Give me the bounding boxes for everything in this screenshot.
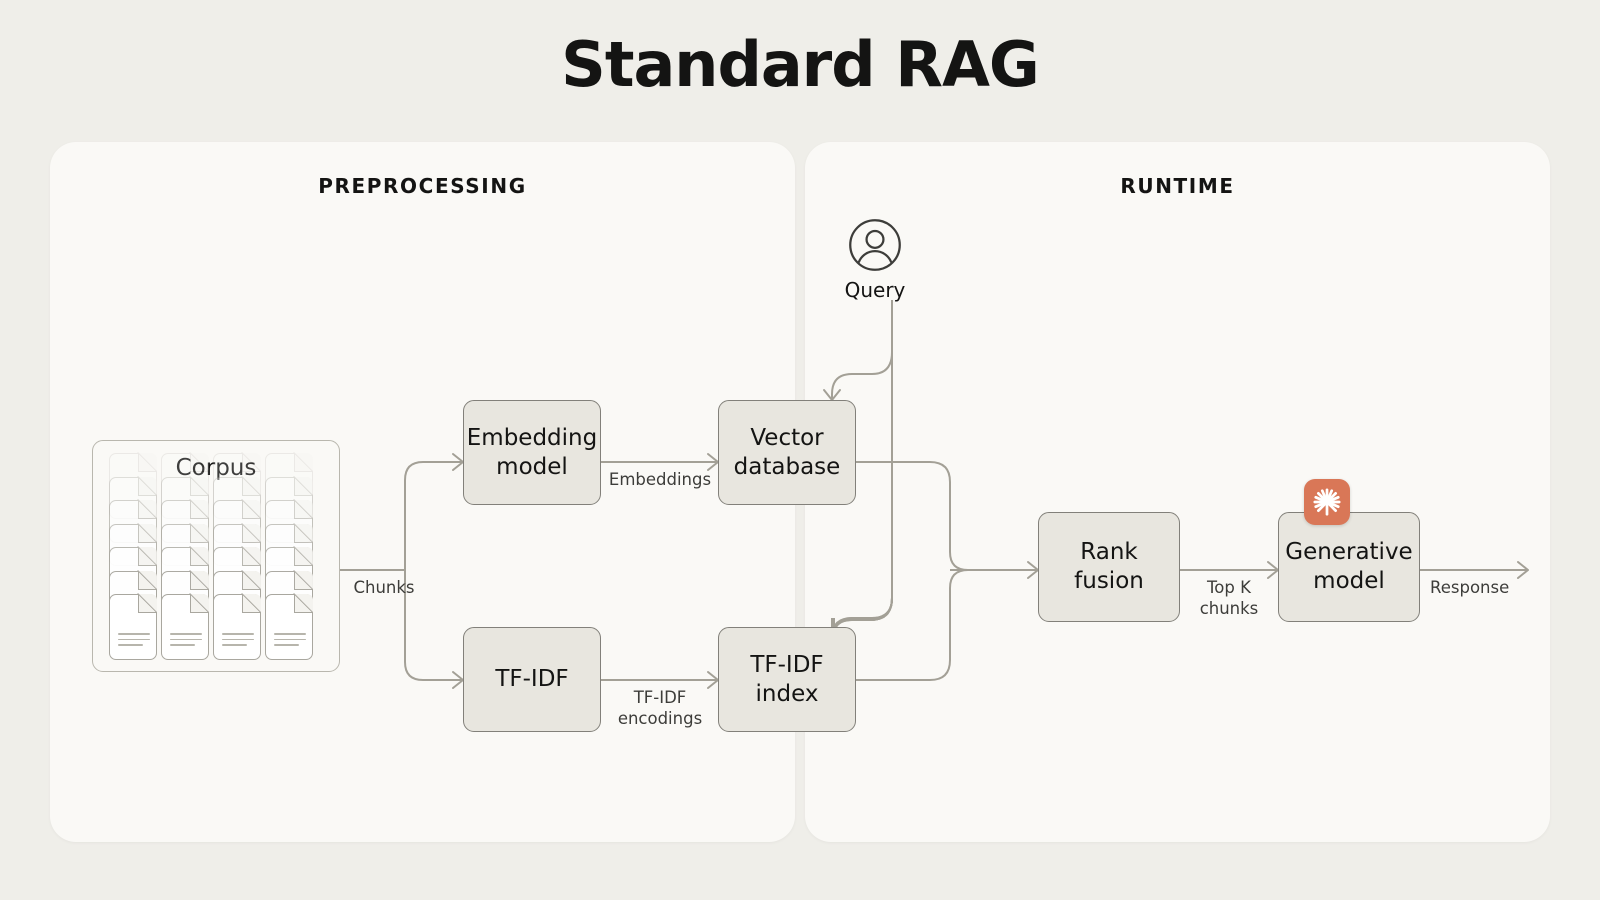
page-fold-corner — [138, 477, 157, 496]
edge-label-embeddings: Embeddings — [601, 470, 719, 491]
page-fold-corner — [294, 477, 313, 496]
page-fold-corner — [294, 453, 313, 472]
page-fold-corner — [242, 547, 261, 566]
page-fold-corner — [242, 453, 261, 472]
page-fold-corner — [294, 547, 313, 566]
document-stack — [161, 453, 209, 661]
page-fold-corner — [242, 594, 261, 613]
page-fold-corner — [242, 524, 261, 543]
corpus-container: Corpus — [92, 440, 340, 672]
node-tfidf[interactable]: TF-IDF — [463, 627, 601, 732]
document-text-lines — [274, 633, 306, 650]
document-text-lines — [170, 633, 202, 650]
page-fold-corner — [138, 594, 157, 613]
page-fold-corner — [190, 524, 209, 543]
page-fold-corner — [190, 500, 209, 519]
page-fold-corner — [294, 500, 313, 519]
page-fold-corner — [190, 453, 209, 472]
page-fold-corner — [190, 571, 209, 590]
edge-label-chunks: Chunks — [336, 578, 432, 599]
user-avatar-icon — [848, 218, 902, 272]
edge-label-tfidf-encodings: TF-IDF encodings — [601, 688, 719, 729]
document-icon — [213, 594, 261, 660]
node-vector-database[interactable]: Vector database — [718, 400, 856, 505]
node-generative-model[interactable]: Generative model — [1278, 512, 1420, 622]
page-fold-corner — [138, 500, 157, 519]
document-stack — [265, 453, 313, 661]
query-label: Query — [838, 278, 912, 302]
query-node: Query — [838, 218, 912, 302]
page-fold-corner — [242, 477, 261, 496]
page-fold-corner — [138, 524, 157, 543]
page-fold-corner — [190, 477, 209, 496]
document-stack — [109, 453, 157, 661]
page-fold-corner — [190, 547, 209, 566]
anthropic-starburst-icon — [1304, 479, 1350, 525]
page-fold-corner — [294, 594, 313, 613]
page-fold-corner — [138, 547, 157, 566]
page-fold-corner — [138, 571, 157, 590]
node-rank-fusion[interactable]: Rank fusion — [1038, 512, 1180, 622]
document-icon — [161, 594, 209, 660]
page-fold-corner — [242, 500, 261, 519]
document-icon — [109, 594, 157, 660]
page-fold-corner — [242, 571, 261, 590]
diagram-canvas: Standard RAG PREPROCESSING RUNTIME — [0, 0, 1600, 900]
page-fold-corner — [190, 594, 209, 613]
page-fold-corner — [138, 453, 157, 472]
document-stack — [213, 453, 261, 661]
document-text-lines — [222, 633, 254, 650]
page-fold-corner — [294, 571, 313, 590]
document-text-lines — [118, 633, 150, 650]
node-tfidf-index[interactable]: TF-IDF index — [718, 627, 856, 732]
edge-label-top-k-chunks: Top K chunks — [1180, 578, 1278, 619]
document-icon — [265, 594, 313, 660]
page-fold-corner — [294, 524, 313, 543]
edge-label-response: Response — [1430, 578, 1538, 599]
node-embedding-model[interactable]: Embedding model — [463, 400, 601, 505]
